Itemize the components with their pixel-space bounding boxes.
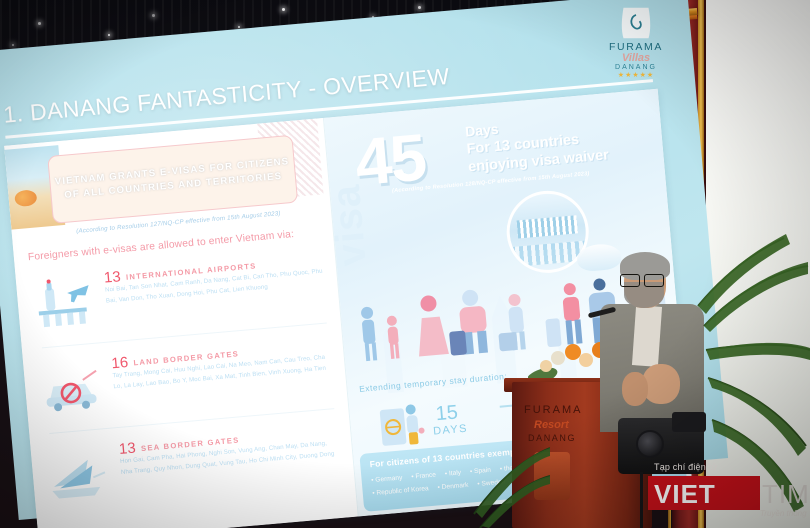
car-icon	[39, 360, 105, 417]
watermark-tagline: Truyền thông	[760, 509, 807, 518]
furama-crest-icon	[609, 6, 663, 40]
entry-item-land: 16 LAND BORDER GATES Tay Trang, Mong Cai…	[33, 336, 336, 362]
speaker-hand-left	[622, 372, 648, 406]
speaker-shirt	[632, 305, 662, 367]
camera-lens-icon	[636, 430, 664, 458]
podium-brand: FURAMA	[524, 404, 582, 416]
entry-item-sea: 13 SEA BORDER GATES Hon Gai, Cam Pha, Ha…	[41, 421, 344, 447]
watermark-viet: VIET	[654, 479, 716, 510]
furama-stars: ★★★★★	[598, 71, 674, 79]
speaker-glasses	[620, 274, 664, 285]
passport-icon	[377, 400, 427, 452]
ship-icon	[47, 446, 113, 503]
stay-days-from: 15	[435, 401, 459, 426]
slide-left-panel: VIETNAM GRANTS E-VISAS FOR CITIZENS OF A…	[4, 118, 358, 528]
visa-waiver-days-unit: Days	[464, 121, 499, 140]
furama-danang-sub: DANANG	[598, 64, 674, 71]
furama-villas-script: Villas	[598, 52, 674, 64]
watermark-times: TIM	[762, 479, 810, 510]
furama-wall-logo: FURAMA Villas DANANG ★★★★★	[598, 6, 674, 82]
airport-icon	[32, 275, 98, 332]
screenshot-root: 1. DANANG FANTASTICITY - OVERVIEW VIETNA…	[0, 0, 810, 528]
visa-waiver-days: 45	[353, 123, 428, 195]
country-item: • France	[411, 469, 437, 484]
watermark: Tạp chí điện tử VIET TIM Truyền thông	[648, 462, 810, 522]
country-item: • Denmark	[437, 479, 469, 495]
stay-days-from-unit: DAYS	[433, 423, 469, 438]
camera-hood	[672, 412, 706, 432]
evisa-header-text: VIETNAM GRANTS E-VISAS FOR CITIZENS OF A…	[50, 154, 296, 204]
waterfront-buildings	[516, 215, 577, 238]
camera-tripod	[640, 472, 643, 528]
waterfront-water	[510, 241, 587, 268]
foreground-plant-left	[470, 418, 550, 528]
evisa-header-card: VIETNAM GRANTS E-VISAS FOR CITIZENS OF A…	[47, 135, 298, 224]
watermark-subtitle: Tạp chí điện tử	[654, 462, 718, 472]
